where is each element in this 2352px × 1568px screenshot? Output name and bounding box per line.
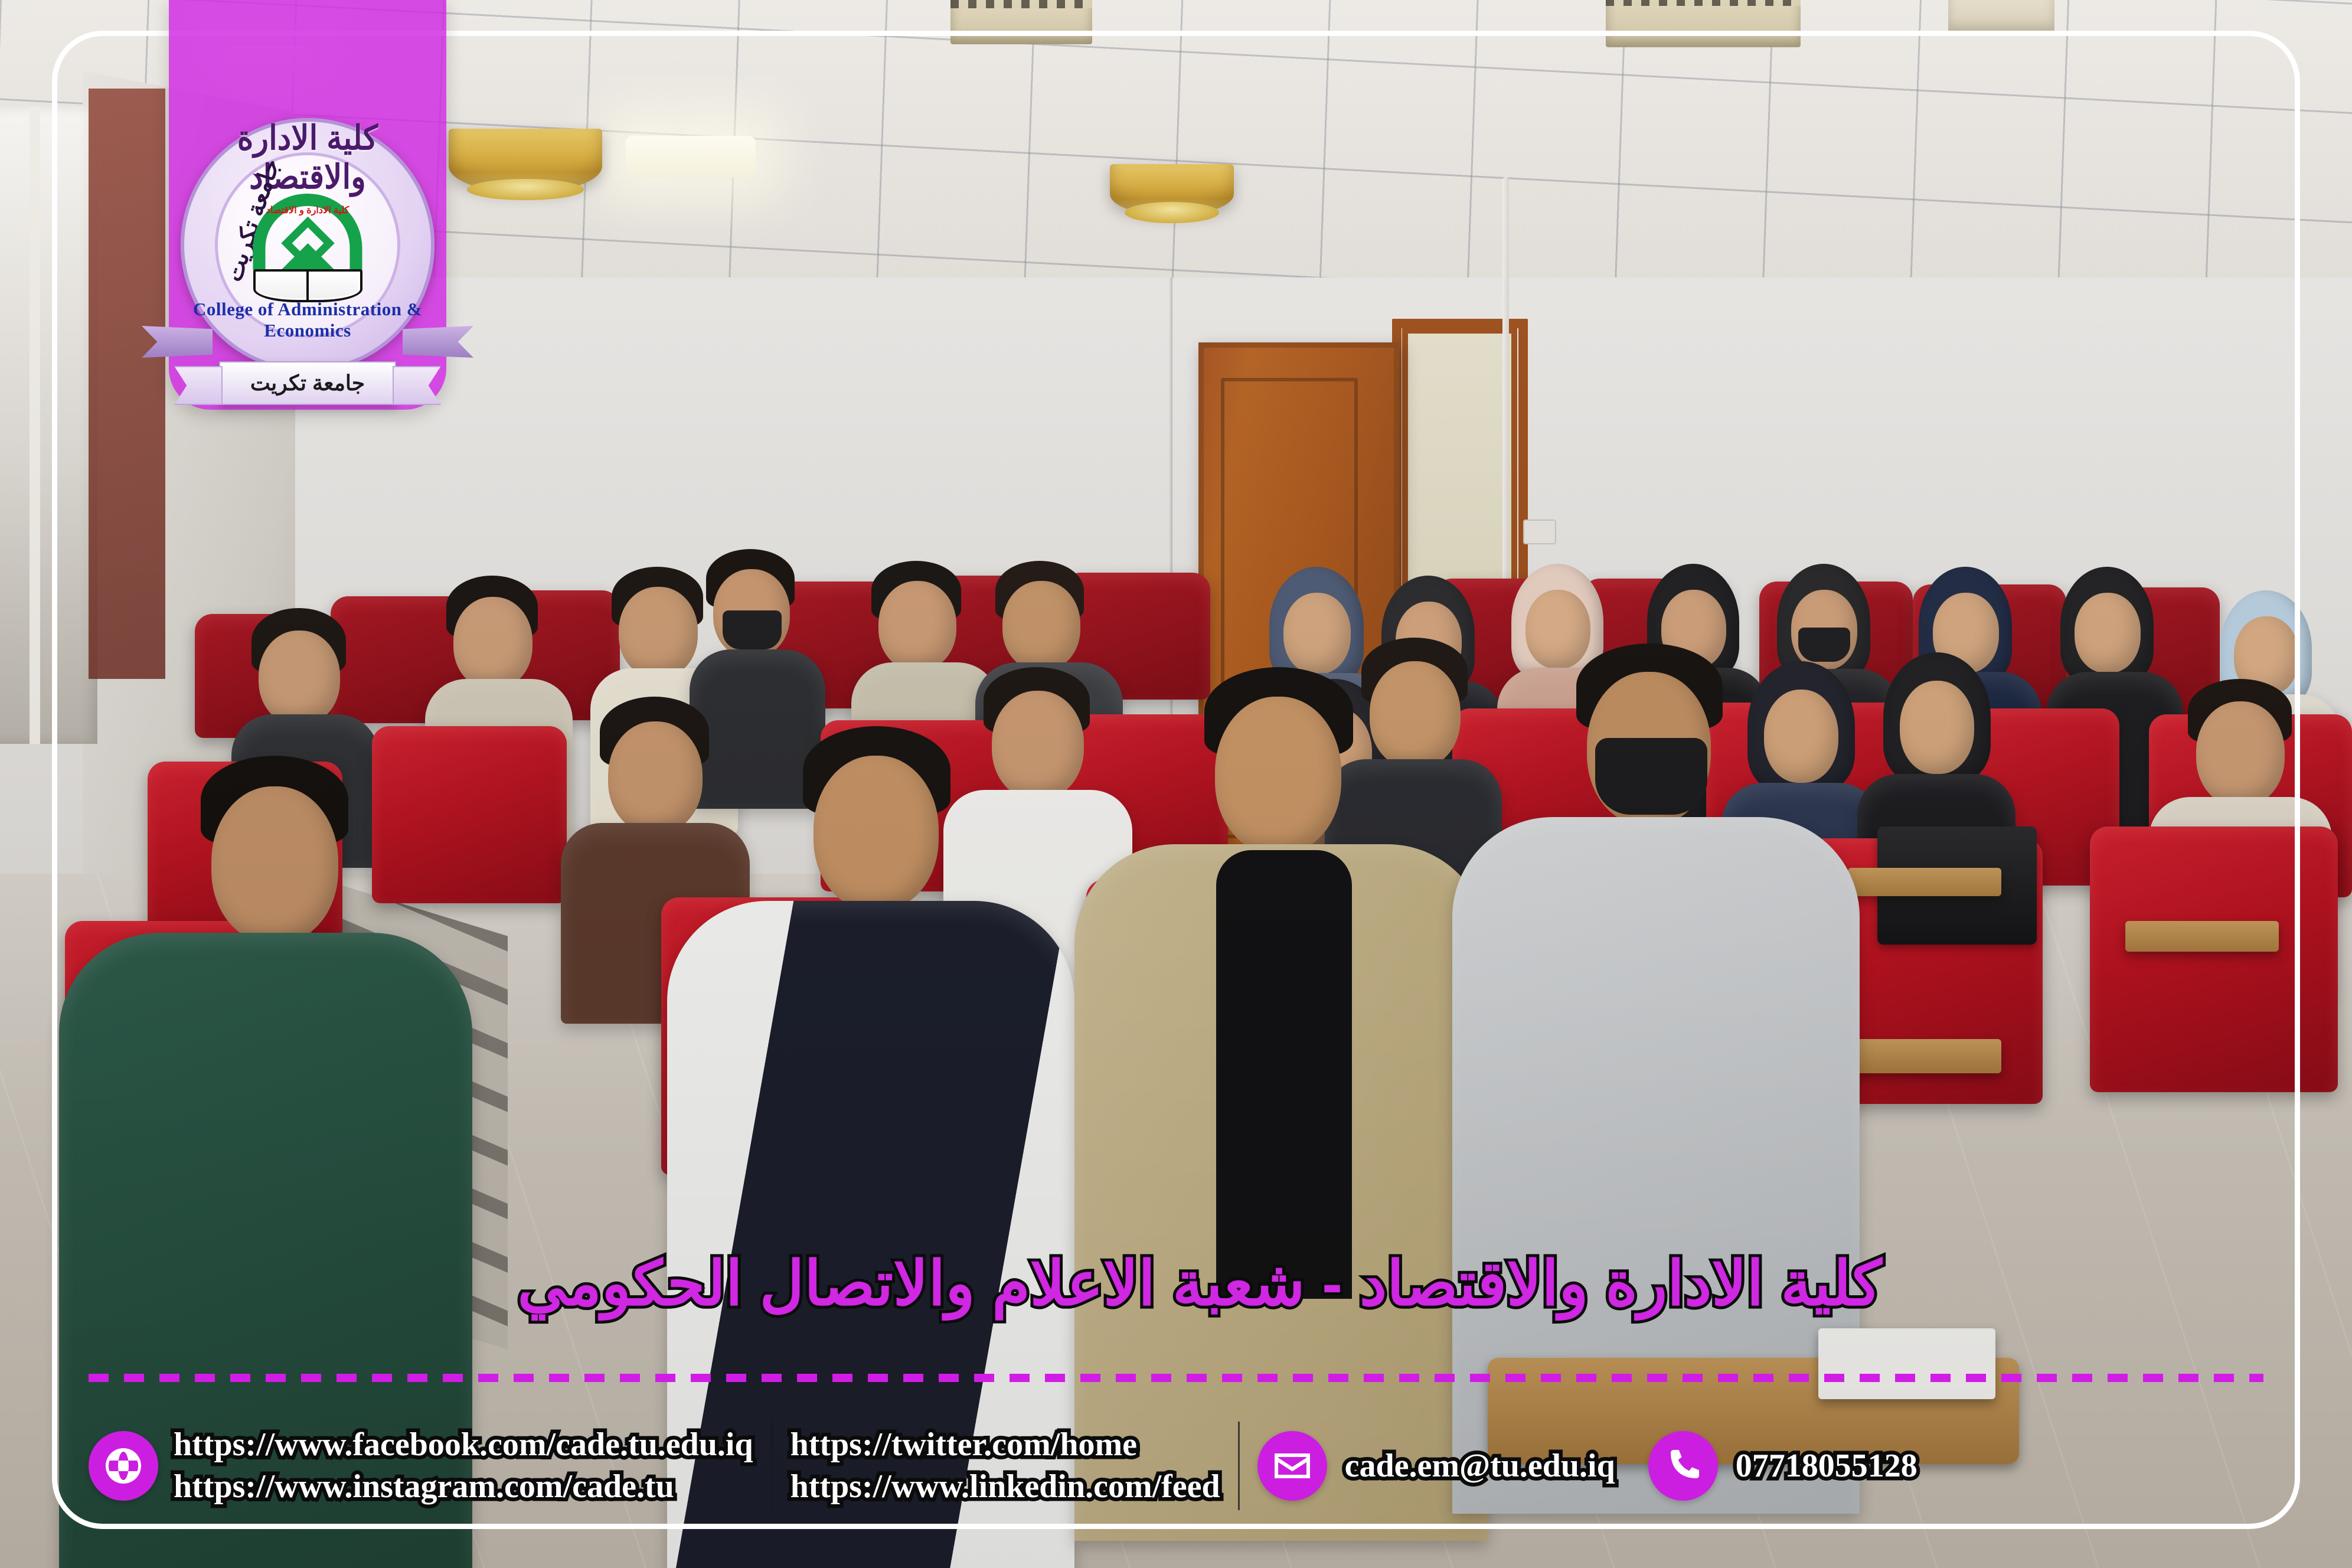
head <box>453 597 533 689</box>
email-address[interactable]: cade.em@tu.edu.iq <box>1345 1449 1615 1484</box>
social-links: https://twitter.com/home https://www.lin… <box>790 1427 1220 1504</box>
crest-arabic-top: كلية الادارة والاقتصاد <box>181 119 435 197</box>
footer-contact-bar: https://www.facebook.com/cade.tu.edu.iq … <box>89 1398 2263 1534</box>
arch-label: كلية الادارة و الاقتصاد <box>253 204 362 216</box>
head <box>2075 593 2141 673</box>
head <box>1900 681 1974 774</box>
college-crest: كلية الادارة والاقتصاد جامعة تكريت كلية … <box>181 118 435 372</box>
footer-social-group: https://twitter.com/home https://www.lin… <box>790 1398 1220 1534</box>
head <box>211 786 338 943</box>
seat <box>372 726 567 903</box>
face-mask <box>1595 738 1707 815</box>
globe-icon <box>89 1431 158 1501</box>
ac-vent <box>1948 0 2054 32</box>
footer-web-group: https://www.facebook.com/cade.tu.edu.iq … <box>89 1398 753 1534</box>
head <box>2196 701 2285 806</box>
head <box>608 721 703 834</box>
ribbon-plate-label: جامعة تكريت <box>219 361 396 405</box>
linkedin-url[interactable]: https://www.linkedin.com/feed <box>790 1469 1220 1504</box>
wall-conduit <box>1502 177 1509 590</box>
crest-emblem: كلية الادارة و الاقتصاد <box>253 194 362 300</box>
crest-english-arc: College of Administration & Economics <box>181 299 435 341</box>
footer-divider-1 <box>771 1422 773 1510</box>
left-wall-panel <box>89 89 165 679</box>
ceiling-fan-unit-2 <box>1606 0 1801 47</box>
ornate-lamp-left <box>449 129 602 191</box>
head <box>1002 581 1080 671</box>
ceiling-fan-unit <box>950 0 1092 44</box>
head <box>878 581 956 671</box>
writing-tablet <box>2125 921 2279 952</box>
page-title: كلية الادارة والاقتصاد - شعبة الاعلام وا… <box>0 1253 2352 1315</box>
head <box>619 587 698 678</box>
head <box>259 631 340 725</box>
phone-icon <box>1648 1431 1718 1501</box>
facebook-url[interactable]: https://www.facebook.com/cade.tu.edu.iq <box>174 1427 753 1462</box>
seat <box>2090 827 2338 1092</box>
footer-divider-2 <box>1238 1422 1240 1510</box>
instagram-url[interactable]: https://www.instagram.com/cade.tu <box>174 1469 753 1504</box>
head <box>1764 690 1838 783</box>
writing-tablet <box>1848 868 2001 896</box>
paper-stack <box>1818 1328 1995 1399</box>
open-book-icon <box>253 269 362 302</box>
footer-phone-group: 07718055128 <box>1648 1398 1917 1534</box>
head <box>814 756 939 910</box>
wall-socket <box>1523 520 1556 544</box>
ceiling-light-panel <box>626 136 756 177</box>
face-mask <box>723 610 782 649</box>
head <box>992 691 1084 799</box>
head <box>1370 661 1461 769</box>
college-logo: كلية الادارة والاقتصاد جامعة تكريت كلية … <box>169 118 446 413</box>
twitter-url[interactable]: https://twitter.com/home <box>790 1427 1220 1462</box>
inner-shirt <box>1216 850 1352 1299</box>
head <box>1525 590 1590 669</box>
footer-email-group: cade.em@tu.edu.iq <box>1257 1398 1615 1534</box>
dashed-divider <box>89 1374 2263 1382</box>
poster-root: كلية الادارة والاقتصاد جامعة تكريت كلية … <box>0 0 2352 1568</box>
envelope-icon <box>1257 1431 1327 1501</box>
head <box>1283 593 1351 674</box>
face-mask <box>1798 628 1850 662</box>
left-window <box>0 106 97 744</box>
phone-number[interactable]: 07718055128 <box>1736 1449 1917 1484</box>
head <box>1215 697 1341 854</box>
web-links: https://www.facebook.com/cade.tu.edu.iq … <box>174 1427 753 1504</box>
ornate-lamp-mid <box>1110 164 1234 214</box>
